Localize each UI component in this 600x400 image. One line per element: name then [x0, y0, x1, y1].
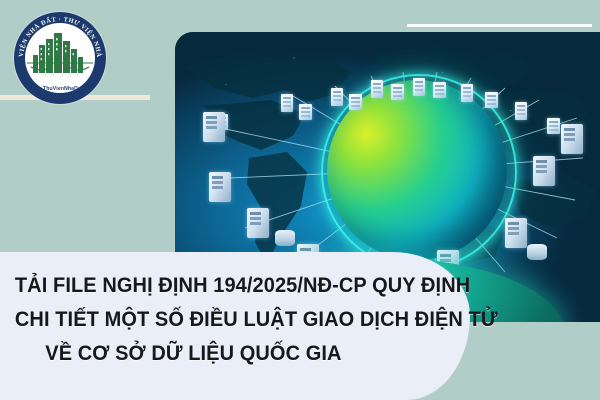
accent-rule-top-right — [407, 24, 592, 27]
document-icon — [413, 78, 425, 96]
caption-line-1: TẢI FILE NGHỊ ĐỊNH 194/2025/NĐ-CP QUY ĐỊ… — [13, 268, 402, 302]
document-icon — [299, 104, 312, 120]
document-icon — [485, 92, 498, 108]
banner-canvas: THƯ VIỆN NHÀ ĐẤT · THƯ VIỆN NHÀ ĐẤT — [0, 0, 600, 400]
server-icon — [561, 124, 583, 154]
logo-inner-disc: www.ThuVienNhaDat.vn — [25, 23, 95, 93]
server-icon — [203, 112, 225, 142]
server-icon — [533, 156, 555, 186]
document-icon — [433, 82, 446, 98]
document-icon — [547, 118, 560, 134]
server-icon — [505, 218, 527, 248]
site-logo[interactable]: THƯ VIỆN NHÀ ĐẤT · THƯ VIỆN NHÀ ĐẤT — [14, 12, 106, 104]
caption-text-block: TẢI FILE NGHỊ ĐỊNH 194/2025/NĐ-CP QUY ĐỊ… — [0, 252, 409, 370]
document-icon — [371, 80, 383, 98]
caption-panel: TẢI FILE NGHỊ ĐỊNH 194/2025/NĐ-CP QUY ĐỊ… — [0, 252, 470, 400]
city-skyline-icon — [25, 29, 95, 77]
caption-line-2: CHI TIẾT MỘT SỐ ĐIỀU LUẬT GIAO DỊCH ĐIỆN… — [13, 302, 402, 336]
document-icon — [515, 102, 527, 120]
document-icon — [461, 84, 473, 102]
document-icon — [391, 84, 404, 100]
database-cylinder-icon — [527, 244, 547, 260]
document-icon — [331, 88, 343, 106]
document-icon — [281, 94, 293, 112]
caption-line-3: VỀ CƠ SỞ DỮ LIỆU QUỐC GIA — [13, 336, 402, 370]
database-cylinder-icon — [275, 230, 295, 246]
server-icon — [209, 172, 231, 202]
logo-domain-text: www.ThuVienNhaDat.vn — [25, 86, 95, 92]
document-icon — [349, 94, 362, 110]
server-icon — [247, 208, 269, 238]
